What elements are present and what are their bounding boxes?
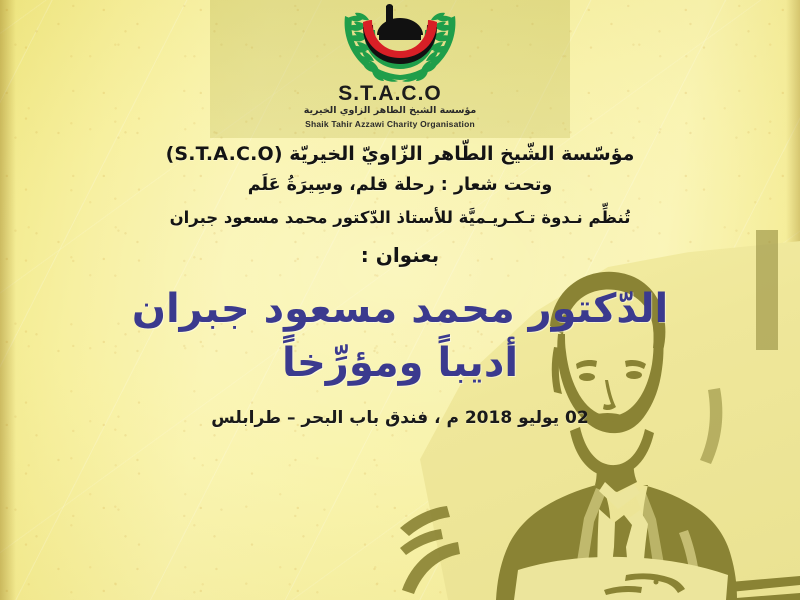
staco-logo <box>320 4 480 82</box>
logo-name-english: Shaik Tahir Azzawi Charity Organisation <box>210 119 570 129</box>
titled-label: بعنوان : <box>0 243 800 267</box>
page-title-line-2: أديباً ومؤرِّخاً <box>0 340 800 386</box>
logo-name-arabic: مؤسسة الشيخ الطاهر الزاوي الخيرية <box>210 105 570 116</box>
seminar-announcement-line: تُنظِّم نـدوة تـكـريـميَّة للأستاذ الدّك… <box>0 208 800 227</box>
poster-canvas: S.T.A.C.O مؤسسة الشيخ الطاهر الزاوي الخي… <box>0 0 800 600</box>
staco-wreath-mosque-logo-icon <box>320 4 480 82</box>
page-title-line-1: الدّكتور محمد مسعود جبران <box>0 286 800 332</box>
mosque-dome-icon <box>377 4 423 40</box>
slogan-line: وتحت شعار : رحلة قلم، وسِيرَةُ عَلَم <box>0 175 800 195</box>
logo-acronym: S.T.A.C.O <box>210 82 570 106</box>
organisation-line: مؤسّسة الشّيخ الطّاهر الزّاويّ الخيريّة … <box>0 143 800 165</box>
event-details: 02 يوليو 2018 م ، فندق باب البحر – طرابل… <box>0 408 800 428</box>
